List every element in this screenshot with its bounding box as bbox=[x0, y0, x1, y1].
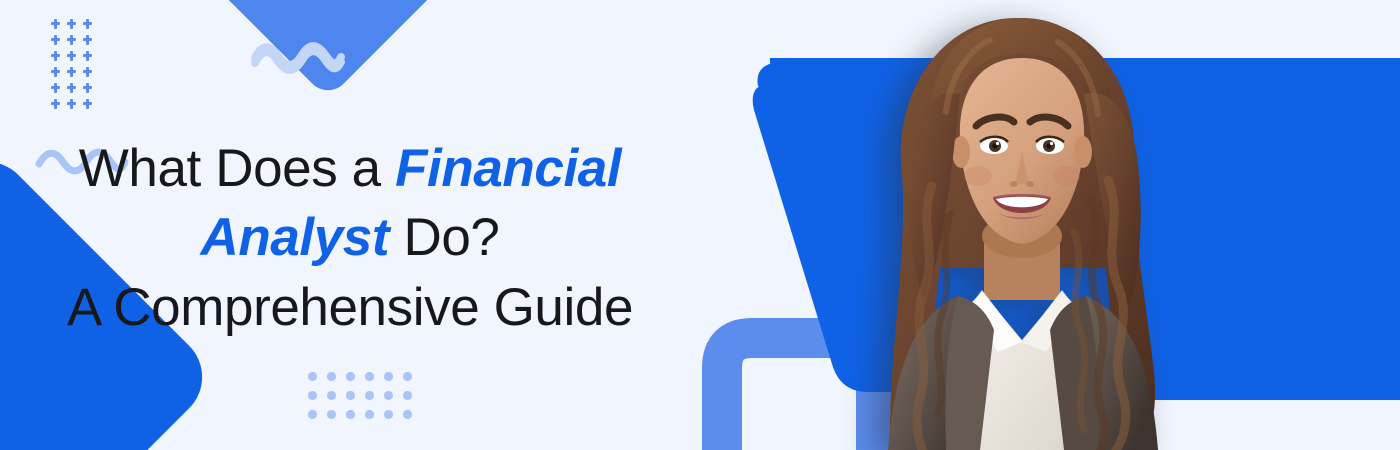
plus-icon bbox=[50, 18, 66, 34]
plus-icon bbox=[66, 18, 82, 34]
page-title: What Does a FinancialAnalyst Do?A Compre… bbox=[0, 134, 700, 344]
dot-icon bbox=[327, 372, 346, 391]
plus-icon bbox=[50, 66, 66, 82]
article-hero-banner: What Does a FinancialAnalyst Do?A Compre… bbox=[0, 0, 1400, 450]
dot-icon bbox=[308, 410, 327, 429]
dot-icon bbox=[384, 372, 403, 391]
headline-line-2: Analyst Do? bbox=[0, 203, 700, 273]
dot-icon bbox=[308, 391, 327, 410]
plus-icon bbox=[50, 82, 66, 98]
plus-icon bbox=[82, 34, 98, 50]
photo-illustration bbox=[862, 0, 1182, 450]
dot-icon bbox=[346, 410, 365, 429]
wave-line-icon-top bbox=[248, 36, 348, 76]
dot-icon bbox=[384, 391, 403, 410]
dot-icon bbox=[346, 372, 365, 391]
plus-icon bbox=[66, 34, 82, 50]
businesswoman-photo bbox=[862, 0, 1182, 450]
plus-icon bbox=[66, 98, 82, 114]
plus-icon bbox=[82, 18, 98, 34]
plus-icon bbox=[82, 82, 98, 98]
dot-icon bbox=[365, 410, 384, 429]
cross-grid-decoration bbox=[50, 18, 98, 114]
dot-icon bbox=[403, 410, 422, 429]
headline-text-accent: Financial bbox=[395, 139, 621, 198]
headline-line-3: A Comprehensive Guide bbox=[0, 273, 700, 343]
dot-grid-decoration bbox=[308, 372, 422, 429]
dot-icon bbox=[308, 372, 327, 391]
dot-icon bbox=[365, 391, 384, 410]
dot-icon bbox=[327, 391, 346, 410]
plus-icon bbox=[50, 98, 66, 114]
plus-icon bbox=[66, 66, 82, 82]
headline-text-accent: Analyst bbox=[200, 208, 389, 267]
headline-text-plain: What Does a bbox=[79, 139, 395, 198]
headline-text-plain: Do? bbox=[389, 208, 499, 267]
dot-icon bbox=[365, 372, 384, 391]
dot-icon bbox=[346, 391, 365, 410]
plus-icon bbox=[66, 82, 82, 98]
plus-icon bbox=[50, 34, 66, 50]
dot-icon bbox=[403, 372, 422, 391]
headline-line-1: What Does a Financial bbox=[0, 134, 700, 204]
dot-icon bbox=[327, 410, 346, 429]
dot-icon bbox=[403, 391, 422, 410]
plus-icon bbox=[66, 50, 82, 66]
plus-icon bbox=[82, 98, 98, 114]
plus-icon bbox=[82, 50, 98, 66]
plus-icon bbox=[82, 66, 98, 82]
dot-icon bbox=[384, 410, 403, 429]
plus-icon bbox=[50, 50, 66, 66]
